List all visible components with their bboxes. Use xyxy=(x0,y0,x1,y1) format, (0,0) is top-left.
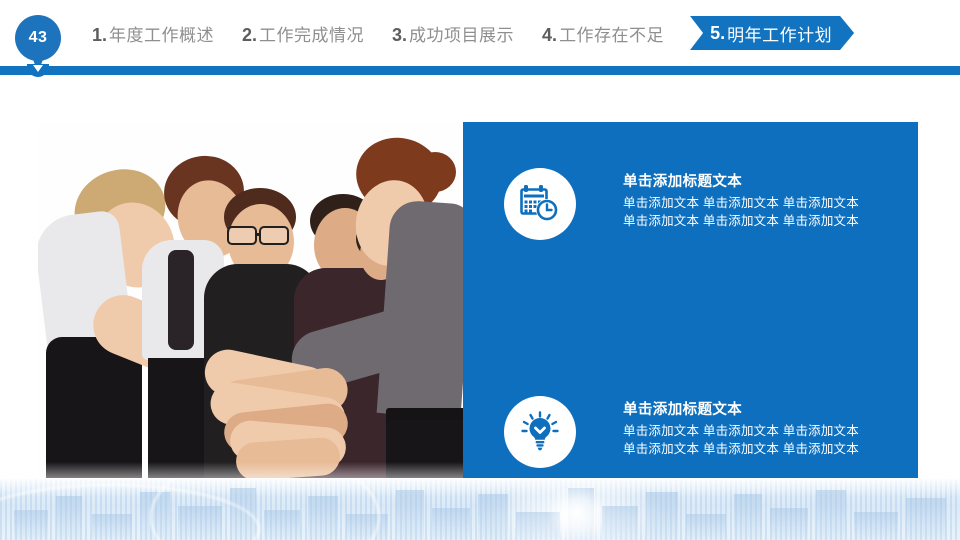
nav-item-5-index: 5. xyxy=(710,23,725,44)
nav-item-4[interactable]: 4. 工作存在不足 xyxy=(528,21,678,46)
nav-item-1-index: 1. xyxy=(92,25,107,46)
person-3-glasses-left xyxy=(227,226,257,245)
person-6-belt xyxy=(386,408,463,420)
panel-row-1-text: 单击添加标题文本 单击添加文本 单击添加文本 单击添加文本 单击添加文本 单击添… xyxy=(623,173,859,230)
section-nav: 1. 年度工作概述 2. 工作完成情况 3. 成功项目展示 4. 工作存在不足 … xyxy=(78,0,854,66)
person-6-bun xyxy=(414,152,456,192)
slide-root: 43 1. 年度工作概述 2. 工作完成情况 3. 成功项目展示 4. 工作存在… xyxy=(0,0,960,540)
city-skyline-watermark xyxy=(0,478,960,540)
page-number-label: 43 xyxy=(15,15,61,61)
person-3-glasses-right xyxy=(259,226,289,245)
panel-row-2-title: 单击添加标题文本 xyxy=(623,401,859,419)
person-2-vest xyxy=(168,250,194,350)
panel-row-2-line-2: 单击添加文本 单击添加文本 单击添加文本 xyxy=(623,440,859,458)
nav-item-4-label: 工作存在不足 xyxy=(559,21,664,46)
panel-row-1-line-1: 单击添加文本 单击添加文本 单击添加文本 xyxy=(623,194,859,212)
nav-item-5-label: 明年工作计划 xyxy=(727,21,832,46)
nav-item-2-label: 工作完成情况 xyxy=(259,21,364,46)
nav-item-2-index: 2. xyxy=(242,25,257,46)
panel-row-1-line-2: 单击添加文本 单击添加文本 单击添加文本 xyxy=(623,212,859,230)
nav-item-3-label: 成功项目展示 xyxy=(409,21,514,46)
nav-item-3-index: 3. xyxy=(392,25,407,46)
nav-item-1[interactable]: 1. 年度工作概述 xyxy=(78,21,228,46)
content-panel: 单击添加标题文本 单击添加文本 单击添加文本 单击添加文本 单击添加文本 单击添… xyxy=(463,122,918,481)
nav-item-5-active[interactable]: 5. 明年工作计划 xyxy=(690,16,854,50)
nav-item-1-label: 年度工作概述 xyxy=(109,21,214,46)
nav-item-4-index: 4. xyxy=(542,25,557,46)
panel-row-1-title: 单击添加标题文本 xyxy=(623,173,859,191)
panel-row-2-line-1: 单击添加文本 单击添加文本 单击添加文本 xyxy=(623,422,859,440)
header-accent-strip xyxy=(0,66,960,75)
lightbulb-idea-icon xyxy=(504,396,576,468)
panel-row-2-text: 单击添加标题文本 单击添加文本 单击添加文本 单击添加文本 单击添加文本 单击添… xyxy=(623,401,859,458)
photo-canvas xyxy=(38,122,463,481)
slide-header: 43 1. 年度工作概述 2. 工作完成情况 3. 成功项目展示 4. 工作存在… xyxy=(0,0,960,76)
pin-base-cap xyxy=(27,64,49,77)
team-photo xyxy=(38,122,463,481)
nav-item-3[interactable]: 3. 成功项目展示 xyxy=(378,21,528,46)
person-3-glasses-bridge xyxy=(256,233,261,236)
glow-dot-1 xyxy=(548,484,606,540)
calendar-clock-icon xyxy=(504,168,576,240)
nav-item-2[interactable]: 2. 工作完成情况 xyxy=(228,21,378,46)
